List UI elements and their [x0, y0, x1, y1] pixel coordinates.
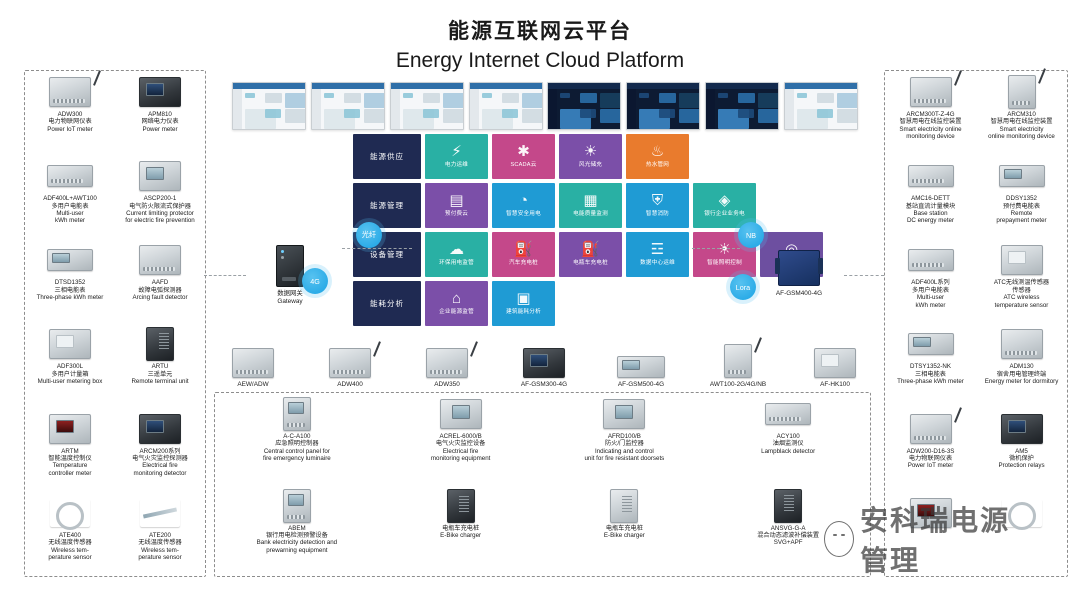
product-cn: 电气火灾监控探测器 — [132, 455, 188, 462]
af-gsm400-label: AF-GSM400-4G — [754, 290, 844, 297]
mid-device-label: AEW/ADW — [237, 381, 268, 388]
product-thumbnail — [274, 489, 320, 523]
meter-wide-icon — [999, 165, 1045, 187]
product-card: DDSY1352预付费电能表Remoteprepayment meter — [976, 155, 1067, 239]
mid-device-label: AWT100-2G/4G/NB — [710, 381, 766, 388]
matrix-tile-label: 电能质量监测 — [571, 211, 610, 218]
cabinet-tall-icon — [774, 489, 802, 523]
product-card: ARTM智能温度控制仪Temperaturecontroller meter — [25, 408, 115, 492]
connector-nb — [692, 248, 740, 249]
fire-safety-icon: ⛨ — [652, 193, 663, 208]
dashboard-thumb-5 — [547, 82, 621, 130]
product-thumbnail — [908, 75, 954, 109]
panel-red-icon — [910, 498, 952, 528]
product-name: AAFD — [152, 279, 169, 286]
product-thumbnail — [47, 243, 93, 277]
gateway-led-icon — [281, 250, 284, 253]
connector-left — [204, 275, 246, 276]
enterprise-energy-icon: ⌂ — [452, 291, 461, 306]
product-en: Electrical firemonitoring equipment — [431, 448, 491, 463]
matrix-tile-label: 智慧消防 — [644, 211, 671, 218]
matrix-tile[interactable]: ✱SCADA云 — [492, 134, 555, 179]
bottom-product-panel: A-C-A100应急照明控制器Central control panel for… — [214, 392, 871, 577]
product-card: AMC16-DETT基站直流计量模块Base stationDC energy … — [885, 155, 976, 239]
prepay-icon: ▤ — [449, 193, 463, 208]
product-cn: 混合动态滤波补偿装置 — [757, 532, 819, 539]
page-title-cn: 能源互联网云平台 — [0, 18, 1080, 46]
product-en: Base stationDC energy meter — [907, 210, 954, 225]
ebike-charger-icon: ⛽ — [581, 242, 600, 257]
matrix-tile[interactable]: ▦电能质量监测 — [559, 183, 622, 228]
product-thumbnail — [999, 159, 1045, 193]
matrix-tile[interactable]: ⛨智慧消防 — [626, 183, 689, 228]
product-cn: 电力物联网仪表 — [48, 118, 91, 125]
mid-device-label: ADW350 — [434, 381, 460, 388]
af-gsm400-device-icon — [778, 250, 820, 286]
matrix-tile[interactable]: ☲数据中心运维 — [626, 232, 689, 277]
gateway-led2-icon — [281, 256, 284, 259]
product-en: Central control panel forfire emergency … — [263, 448, 331, 463]
din-rail-antenna-icon — [329, 348, 371, 378]
product-card: ABEM银行用电检测预警设备Bank electricity detection… — [215, 485, 379, 577]
wide-module-icon — [908, 249, 954, 271]
product-cn: 应急照明控制器 — [275, 440, 318, 447]
matrix-tile[interactable]: ⛽汽车充电桩 — [492, 232, 555, 277]
matrix-tile[interactable]: ◈银行企业业务电 — [693, 183, 756, 228]
wall-panel-icon — [440, 399, 482, 429]
product-cn: 电气防火限流式保护器 — [129, 203, 191, 210]
product-name: ARTU — [152, 363, 169, 370]
product-en: Power meter — [142, 126, 177, 133]
product-thumbnail — [908, 159, 954, 193]
product-thumbnail — [137, 412, 183, 446]
product-name: ADM130 — [1009, 363, 1033, 370]
cabinet-icon — [283, 489, 311, 523]
wall-panel-icon — [603, 399, 645, 429]
charger-light-icon — [610, 489, 638, 523]
dashboard-thumb-7 — [705, 82, 779, 130]
product-card — [885, 492, 976, 576]
product-en: Power IoT meter — [47, 126, 93, 133]
product-en: Power IoT meter — [908, 462, 954, 469]
product-cn: 电瓶车充电桩 — [442, 525, 479, 532]
product-en: Multi-user metering box — [38, 378, 103, 385]
product-en: Indicating and controlunit for fire resi… — [584, 448, 664, 463]
mid-device-label: AF-GSM500-4G — [618, 381, 664, 388]
mid-device: ADW400 — [311, 348, 389, 388]
din-rail-icon — [232, 348, 274, 378]
product-cn: 故障电弧探测器 — [138, 287, 181, 294]
heat-water-icon: ♨ — [651, 144, 664, 159]
product-name: AM5 — [1015, 448, 1028, 455]
matrix-tile[interactable]: ◔智慧安全用电 — [492, 183, 555, 228]
product-cn: 油烟监测仪 — [773, 440, 804, 447]
bank-power-icon: ◈ — [719, 193, 731, 208]
product-cn: 多用户电能表 — [51, 203, 88, 210]
din-rail-icon — [139, 245, 181, 275]
dashboard-thumbnail-strip — [232, 82, 858, 132]
product-cn: 电瓶车充电桩 — [606, 525, 643, 532]
box-white-icon — [814, 348, 856, 378]
product-card: ACREL-6000/B电气火灾监控设备Electrical firemonit… — [379, 393, 543, 485]
dashboard-thumb-3 — [390, 82, 464, 130]
product-card: ADW200-D16-3S电力物联网仪表Power IoT meter — [885, 408, 976, 492]
right-product-panel: ARCM300T-Z-4G智慧用电在线监控装置Smart electricity… — [884, 70, 1068, 577]
product-card: ATE200无线温度传感器Wireless tem-perature senso… — [115, 492, 205, 576]
tall-module-icon — [1008, 75, 1036, 109]
product-name: ANSVG-G-A — [771, 525, 806, 532]
product-thumbnail — [137, 159, 183, 193]
eco-power-icon: ☁ — [449, 242, 464, 257]
dashboard-thumb-2 — [311, 82, 385, 130]
product-cn: 预付费电能表 — [1003, 203, 1040, 210]
product-en: Remoteprepayment meter — [996, 210, 1046, 225]
product-thumbnail — [47, 412, 93, 446]
product-en: Smart electricity onlinemonitoring devic… — [899, 126, 961, 141]
product-name: DTSY1352-NK — [910, 363, 951, 370]
box-white-icon — [1001, 245, 1043, 275]
product-card: ANSVG-G-A混合动态滤波补偿装置SVG+APF — [706, 485, 870, 577]
product-cn: 无线温度传感器 — [48, 539, 91, 546]
product-cn: 多用户计量箱 — [51, 371, 88, 378]
product-thumbnail — [908, 327, 954, 361]
product-thumbnail — [765, 489, 811, 523]
product-card: ARTU三遥单元Remote terminal unit — [115, 323, 205, 407]
product-thumbnail — [47, 159, 93, 193]
product-thumbnail — [999, 75, 1045, 109]
matrix-tile-label: 银行企业业务电 — [702, 211, 747, 218]
product-en: Remote terminal unit — [131, 378, 188, 385]
product-card: ADW300电力物联网仪表Power IoT meter — [25, 71, 115, 155]
matrix-tile-label: 环保用电监管 — [437, 260, 476, 267]
page-title: 能源互联网云平台 Energy Internet Cloud Platform — [0, 18, 1080, 76]
gateway-device-icon — [276, 245, 304, 287]
mid-device: AEW/ADW — [214, 348, 292, 388]
product-name: ADF400L+AWT100 — [43, 195, 97, 202]
product-thumbnail — [908, 243, 954, 277]
matrix-tile-label: 热水管网 — [644, 162, 671, 169]
product-name: ADW200-D16-3S — [907, 448, 955, 455]
product-thumbnail — [137, 243, 183, 277]
product-name: ATC无线测温传感器 — [994, 279, 1049, 286]
product-card: DTSD1352三相电能表Three-phase kWh meter — [25, 239, 115, 323]
din-rail-antenna-icon — [910, 77, 952, 107]
product-en: Wireless tem-perature sensor — [138, 547, 181, 562]
meter-wide-icon — [47, 249, 93, 271]
product-cn: 微机保护 — [1009, 455, 1034, 462]
product-cn: 传感器 — [1012, 287, 1031, 294]
meter-wide-icon — [617, 356, 665, 378]
product-card — [976, 492, 1067, 576]
product-cn: 智能温度控制仪 — [48, 455, 91, 462]
gateway-label-en: Gateway — [244, 298, 336, 306]
mid-device: ADW350 — [408, 348, 486, 388]
product-name: ARCM200系列 — [140, 448, 181, 455]
product-thumbnail — [438, 489, 484, 523]
matrix-tile[interactable]: ☁环保用电监管 — [425, 232, 488, 277]
safe-power-icon: ◔ — [519, 193, 528, 208]
bottom-product-grid: A-C-A100应急照明控制器Central control panel for… — [215, 393, 870, 576]
product-card: AFRD100/B防火/门监控器Indicating and controlun… — [543, 393, 707, 485]
af-gsm400-block: AF-GSM400-4G — [754, 250, 844, 297]
dashboard-thumb-6 — [626, 82, 700, 130]
product-en: ATC wirelesstemperature sensor — [995, 294, 1049, 309]
matrix-tile-label: SCADA云 — [508, 162, 538, 169]
din-rail-antenna-icon — [426, 348, 468, 378]
product-en: Energy meter for dormitory — [985, 378, 1059, 385]
mid-device-label: ADW400 — [337, 381, 363, 388]
matrix-tile-label: 汽车充电桩 — [507, 260, 540, 267]
meter-wide-icon — [908, 333, 954, 355]
product-thumbnail — [908, 496, 954, 530]
product-card: ARCM200系列电气火灾监控探测器Electrical firemonitor… — [115, 408, 205, 492]
matrix-tile[interactable]: ⌂企业能源监管 — [425, 281, 488, 326]
din-rail-antenna-icon — [910, 414, 952, 444]
product-cn: 基站直流计量模块 — [906, 203, 956, 210]
product-card: A-C-A100应急照明控制器Central control panel for… — [215, 393, 379, 485]
product-en: Smart electricityonline monitoring devic… — [988, 126, 1055, 141]
product-thumbnail — [999, 496, 1045, 530]
matrix-tile[interactable]: ▤预付费云 — [425, 183, 488, 228]
wide-module-icon — [908, 165, 954, 187]
matrix-tile-label: 企业能源监管 — [437, 309, 476, 316]
product-cn: 三相电能表 — [915, 371, 946, 378]
product-en: Bank electricity detection andprewarning… — [257, 539, 337, 554]
product-card: ATE400无线温度传感器Wireless tem-perature senso… — [25, 492, 115, 576]
product-thumbnail — [137, 496, 183, 530]
product-thumbnail — [999, 327, 1045, 361]
product-thumbnail — [999, 243, 1045, 277]
product-name: ASCP200-1 — [144, 195, 177, 202]
bubble-fiber: 光纤 — [356, 222, 382, 248]
product-card: ASCP200-1电气防火限流式保护器Current limiting prot… — [115, 155, 205, 239]
matrix-row: 能源供应⚡电力运维✱SCADA云☀风光储充♨热水管网 — [353, 134, 827, 179]
product-thumbnail — [47, 327, 93, 361]
product-card: ADF300L多用户计量箱Multi-user metering box — [25, 323, 115, 407]
product-en: Wireless tem-perature sensor — [48, 547, 91, 562]
matrix-tile-label: 预付费云 — [443, 211, 470, 218]
product-en: Electrical firemonitoring detector — [134, 462, 187, 477]
product-en: E-Bike charger — [440, 532, 481, 539]
scada-icon: ✱ — [517, 144, 530, 159]
product-cn: 电气火灾监控设备 — [436, 440, 486, 447]
matrix-tile[interactable]: ⚡电力运维 — [425, 134, 488, 179]
product-thumbnail — [137, 327, 183, 361]
matrix-tile[interactable]: ⛽电瓶车充电桩 — [559, 232, 622, 277]
product-cn: 宿舍用电管理终端 — [997, 371, 1047, 378]
bubble-4g: 4G — [302, 268, 328, 294]
product-en: Protection relays — [998, 462, 1044, 469]
product-cn: 银行用电检测预警设备 — [266, 532, 328, 539]
matrix-tile[interactable]: ♨热水管网 — [626, 134, 689, 179]
ev-charger-icon: ⛽ — [514, 242, 533, 257]
left-product-panel: ADW300电力物联网仪表Power IoT meterAPM810网络电力仪表… — [24, 70, 206, 577]
matrix-tile-label: 智能照明控制 — [705, 260, 744, 267]
product-name: ADF300L — [57, 363, 83, 370]
bubble-nb: NB — [738, 222, 764, 248]
mid-device: AF-GSM500-4G — [602, 356, 680, 388]
product-card: ATC无线测温传感器传感器ATC wirelesstemperature sen… — [976, 239, 1067, 323]
wide-module-icon — [765, 403, 811, 425]
product-card: APM810网络电力仪表Power meter — [115, 71, 205, 155]
product-card: AM5微机保护Protection relays — [976, 408, 1067, 492]
product-thumbnail — [601, 489, 647, 523]
box-white-icon — [49, 329, 91, 359]
product-cn: 防火/门监控器 — [605, 440, 644, 447]
product-card: ARCM310智慧用电在线监控装置Smart electricityonline… — [976, 71, 1067, 155]
product-name: DTSD1352 — [55, 279, 86, 286]
dashboard-thumb-8 — [784, 82, 858, 130]
product-card: ADM130宿舍用电管理终端Energy meter for dormitory — [976, 323, 1067, 407]
product-cn: 网络电力仪表 — [141, 118, 178, 125]
product-card: DTSY1352-NK三相电能表Three-phase kWh meter — [885, 323, 976, 407]
product-en: Current limiting protectorfor electric f… — [125, 210, 194, 225]
product-en: Multi-userkWh meter — [55, 210, 85, 225]
product-cn: 无线温度传感器 — [138, 539, 181, 546]
building-energy-icon: ▣ — [516, 291, 530, 306]
product-thumbnail — [908, 412, 954, 446]
product-name: ABEM — [288, 525, 306, 532]
mid-device-label: AF-HK100 — [820, 381, 850, 388]
product-card: ADF400L+AWT100多用户电能表Multi-userkWh meter — [25, 155, 115, 239]
right-product-grid: ARCM300T-Z-4G智慧用电在线监控装置Smart electricity… — [885, 71, 1067, 576]
ring-sensor-icon — [1002, 499, 1042, 527]
dashboard-thumb-1 — [232, 82, 306, 130]
power-quality-icon: ▦ — [583, 193, 597, 208]
product-en: Multi-userkWh meter — [916, 294, 946, 309]
mid-device: AF-GSM300-4G — [505, 348, 583, 388]
product-card: ACY100油烟监测仪Lampblack detector — [706, 393, 870, 485]
product-cn: 三遥单元 — [148, 371, 173, 378]
lighting-icon: ☀ — [718, 242, 731, 257]
product-en: Lampblack detector — [761, 448, 815, 455]
panel-light-icon — [139, 161, 181, 191]
product-thumbnail — [137, 75, 183, 109]
product-name: ADF400L系列 — [911, 279, 950, 286]
product-thumbnail — [999, 412, 1045, 446]
matrix-row: 能源管理▤预付费云◔智慧安全用电▦电能质量监测⛨智慧消防◈银行企业业务电 — [353, 183, 827, 228]
matrix-tile-label: 数据中心运维 — [638, 260, 677, 267]
connector-right — [844, 275, 884, 276]
matrix-category: 能源管理 — [353, 183, 421, 228]
dashboard-thumb-4 — [469, 82, 543, 130]
product-thumbnail — [47, 496, 93, 530]
panel-red-icon — [49, 414, 91, 444]
product-card: ADF400L系列多用户电能表Multi-userkWh meter — [885, 239, 976, 323]
product-name: ARTM — [61, 448, 78, 455]
product-card: 电瓶车充电桩E-Bike charger — [379, 485, 543, 577]
ring-sensor-icon — [50, 499, 90, 527]
product-cn: 智慧用电在线监控装置 — [900, 118, 962, 125]
product-thumbnail — [274, 397, 320, 431]
mid-device: AWT100-2G/4G/NB — [699, 344, 777, 388]
tall-module-icon — [724, 344, 752, 378]
product-cn: 多用户电能表 — [912, 287, 949, 294]
panel-blue-icon — [1001, 414, 1043, 444]
connector-fiber — [342, 248, 412, 249]
product-en: Arcing fault detector — [132, 294, 187, 301]
left-product-grid: ADW300电力物联网仪表Power IoT meterAPM810网络电力仪表… — [25, 71, 205, 576]
matrix-category: 能耗分析 — [353, 281, 421, 326]
matrix-tile[interactable]: ▣建筑能耗分析 — [492, 281, 555, 326]
matrix-tile-label: 风光储充 — [577, 162, 604, 169]
charger-dark-icon — [447, 489, 475, 523]
matrix-tile-label: 电力运维 — [443, 162, 470, 169]
product-card: ARCM300T-Z-4G智慧用电在线监控装置Smart electricity… — [885, 71, 976, 155]
matrix-tile[interactable]: ☀风光储充 — [559, 134, 622, 179]
product-thumbnail — [47, 75, 93, 109]
product-thumbnail — [601, 397, 647, 431]
gateway-port-icon — [282, 277, 296, 281]
product-cn: 智慧用电在线监控装置 — [991, 118, 1053, 125]
matrix-tile-label: 智慧安全用电 — [504, 211, 543, 218]
product-card: 电瓶车充电桩E-Bike charger — [543, 485, 707, 577]
panel-dark-icon — [139, 77, 181, 107]
cabinet-icon — [283, 397, 311, 431]
wind-solar-icon: ☀ — [584, 144, 597, 159]
din-rail-icon — [1001, 329, 1043, 359]
wide-module-icon — [47, 165, 93, 187]
panel-dark-icon — [523, 348, 565, 378]
product-cn: 电力物联网仪表 — [909, 455, 952, 462]
panel-blue-icon — [139, 414, 181, 444]
tall-dark-icon — [146, 327, 174, 361]
mid-device-row: AEW/ADWADW400ADW350AF-GSM300-4GAF-GSM500… — [214, 340, 874, 388]
rod-sensor-icon — [140, 499, 180, 527]
matrix-category: 能源供应 — [353, 134, 421, 179]
product-en: Temperaturecontroller meter — [49, 462, 92, 477]
product-name: DDSY1352 — [1006, 195, 1037, 202]
product-en: E-Bike charger — [604, 532, 645, 539]
matrix-tile-label: 建筑能耗分析 — [504, 309, 543, 316]
product-en: SVG+APF — [774, 539, 803, 546]
matrix-tile-label: 电瓶车充电桩 — [571, 260, 610, 267]
mid-device-label: AF-GSM300-4G — [521, 381, 567, 388]
product-thumbnail — [765, 397, 811, 431]
mid-device: AF-HK100 — [796, 348, 874, 388]
datacenter-icon: ☲ — [651, 242, 664, 257]
bubble-lora: Lora — [730, 274, 756, 300]
product-thumbnail — [438, 397, 484, 431]
power-ops-icon: ⚡ — [451, 144, 462, 159]
product-en: Three-phase kWh meter — [897, 378, 964, 385]
product-card: AAFD故障电弧探测器Arcing fault detector — [115, 239, 205, 323]
product-name: AMC16-DETT — [911, 195, 950, 202]
product-en: Three-phase kWh meter — [37, 294, 104, 301]
product-cn: 三相电能表 — [55, 287, 86, 294]
din-rail-antenna-icon — [49, 77, 91, 107]
